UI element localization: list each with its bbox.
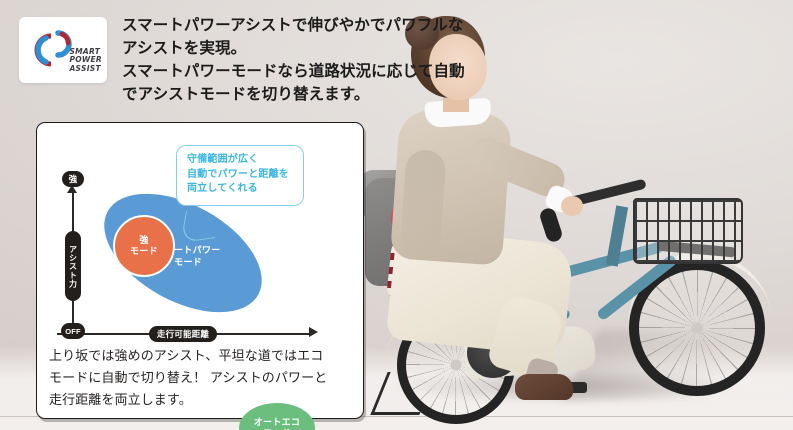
headline: スマートパワーアシストで伸びやかでパワフルな アシストを実現。 スマートパワーモ… — [122, 14, 542, 106]
assist-mode-card: 強 アシスト力 OFF 走行可能距離 スマートパワー モード 強 モード オート… — [36, 122, 364, 419]
callout-line-1: 守備範囲が広く — [187, 153, 294, 168]
y-axis-max-label: 強 — [62, 171, 84, 187]
headline-line-1: スマートパワーアシストで伸びやかでパワフルな — [122, 14, 542, 37]
rider-hand — [561, 196, 583, 216]
region-label-line-1: オートエコ — [254, 417, 301, 429]
headline-line-4: でアシストモードを切り替えます。 — [122, 83, 542, 106]
region-strong-mode: 強 モード — [113, 215, 175, 277]
callout-line-3: 両立してくれる — [187, 182, 294, 197]
region-label-line-2: モード — [130, 246, 158, 258]
callout-tail — [180, 206, 220, 243]
card-caption: 上り坂では強めのアシスト、平坦な道ではエコ モードに自動で切り替え！ アシストの… — [49, 345, 351, 411]
front-basket — [633, 198, 743, 264]
headline-line-2: アシストを実現。 — [122, 37, 542, 60]
logo-wordmark: SMART POWER ASSIST — [69, 48, 102, 73]
y-axis-title: アシスト力 — [65, 231, 81, 301]
caption-line-1: 上り坂では強めのアシスト、平坦な道ではエコ — [49, 345, 351, 367]
x-axis-title: 走行可能距離 — [149, 326, 217, 342]
caption-line-3: 走行距離を両立します。 — [49, 389, 351, 411]
rider-shoe — [515, 374, 573, 400]
caption-line-2: モードに自動で切り替え！ アシストのパワーと — [49, 367, 351, 389]
region-strong-mode-label: 強 モード — [130, 235, 158, 258]
region-label-line-1: 強 — [130, 235, 158, 247]
assist-mode-chart: 強 アシスト力 OFF 走行可能距離 スマートパワー モード 強 モード オート… — [37, 123, 363, 339]
rider-torso-shading — [399, 149, 446, 260]
coverage-callout: 守備範囲が広く 自動でパワーと距離を 両立してくれる — [176, 145, 304, 206]
callout-line-2: 自動でパワーと距離を — [187, 168, 294, 183]
promo-banner: SMART POWER ASSIST スマートパワーアシストで伸びやかでパワフル… — [0, 0, 793, 430]
smart-power-assist-logo: SMART POWER ASSIST — [19, 17, 107, 83]
headline-line-3: スマートパワーモードなら道路状況に応じて自動 — [122, 60, 542, 83]
logo-word-assist: ASSIST — [69, 65, 102, 73]
region-auto-eco-mode-label: オートエコ モード — [254, 417, 301, 430]
x-axis-arrow-icon — [309, 327, 318, 337]
y-axis-min-label: OFF — [61, 323, 85, 339]
